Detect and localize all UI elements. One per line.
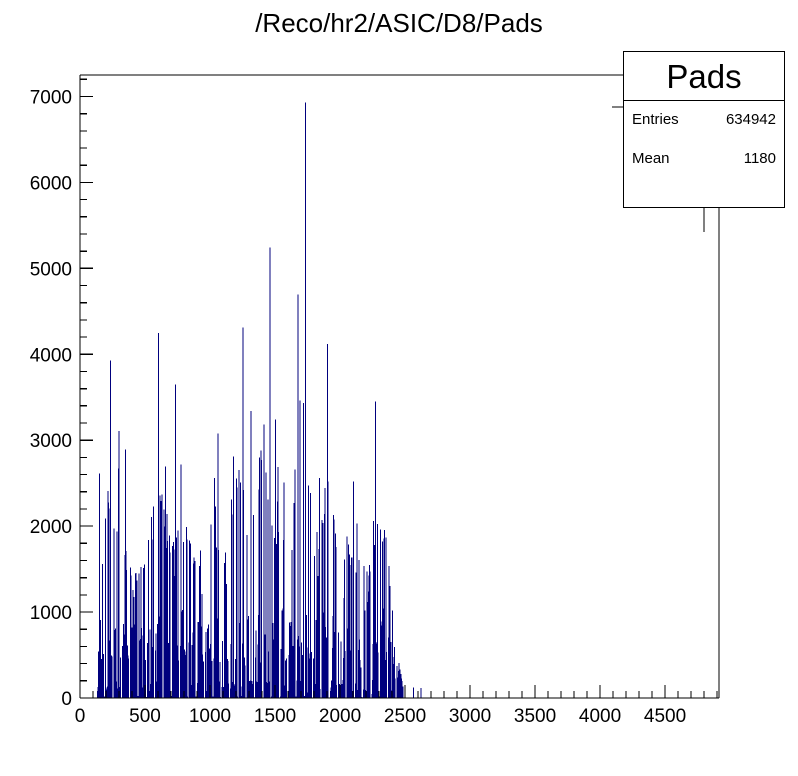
- x-tick-label: 0: [75, 706, 86, 727]
- x-tick-labels: 050010001500200025003000350040004500: [75, 706, 686, 727]
- stats-value-mean: 1180: [744, 150, 776, 167]
- y-tick-label: 0: [61, 689, 72, 710]
- y-tick-labels: 01000200030004000500060007000: [30, 87, 72, 710]
- x-tick-label: 500: [129, 706, 161, 727]
- stats-key-mean: Mean: [632, 150, 670, 167]
- y-tick-label: 5000: [30, 259, 72, 280]
- y-tick-label: 7000: [30, 87, 72, 108]
- x-tick-label: 1000: [189, 706, 231, 727]
- x-tick-label: 1500: [254, 706, 296, 727]
- stats-body: Entries 634942 Mean 1180: [624, 101, 784, 167]
- x-tick-label: 3000: [449, 706, 491, 727]
- y-tick-label: 3000: [30, 431, 72, 452]
- x-tick-label: 2000: [319, 706, 361, 727]
- y-tick-label: 1000: [30, 603, 72, 624]
- y-tick-label: 4000: [30, 345, 72, 366]
- stats-key-entries: Entries: [632, 111, 679, 128]
- x-tick-label: 4500: [644, 706, 686, 727]
- stats-row-entries: Entries 634942: [632, 111, 776, 128]
- x-tick-label: 4000: [579, 706, 621, 727]
- y-tick-label: 6000: [30, 173, 72, 194]
- stats-title-row: Pads: [624, 52, 784, 101]
- root-canvas: /Reco/hr2/ASIC/D8/Pads 05001000150020002…: [0, 0, 798, 776]
- stats-box[interactable]: Pads Entries 634942 Mean 1180: [623, 51, 785, 208]
- stats-title: Pads: [666, 60, 741, 93]
- stats-row-mean: Mean 1180: [632, 150, 776, 167]
- y-tick-label: 2000: [30, 517, 72, 538]
- x-tick-label: 2500: [384, 706, 426, 727]
- stats-value-entries: 634942: [726, 111, 776, 128]
- histogram-bars: [97, 103, 422, 699]
- x-tick-label: 3500: [514, 706, 556, 727]
